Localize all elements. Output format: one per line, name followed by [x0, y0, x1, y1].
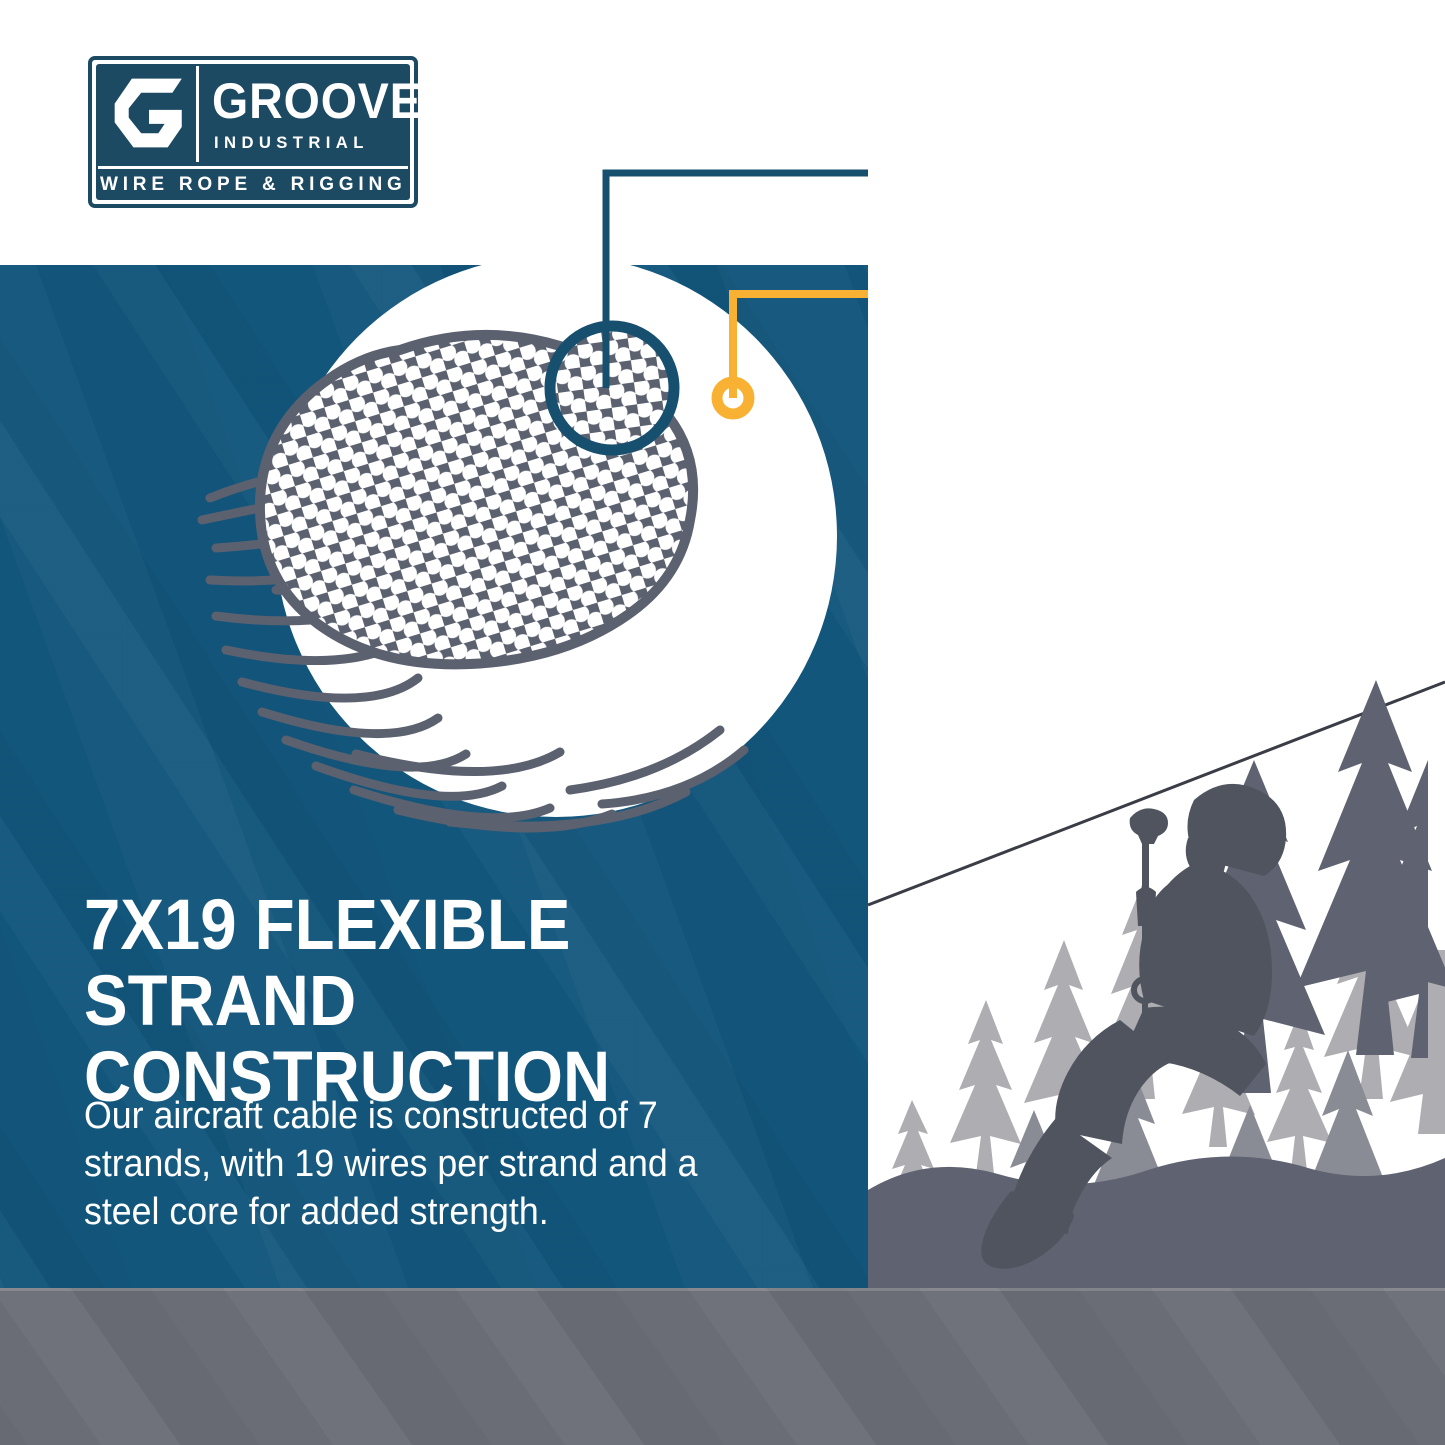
page-headline: 7X19 FLEXIBLE STRAND CONSTRUCTION — [84, 888, 783, 1116]
infographic-page: GROOVE INDUSTRIAL WIRE ROPE & RIGGING — [0, 0, 1445, 1445]
logo-divider — [196, 66, 199, 162]
logo-subword: INDUSTRIAL — [214, 132, 400, 154]
band-top-highlight — [0, 1288, 1445, 1291]
gray-wave-texture — [0, 1288, 1445, 1445]
rope-body — [150, 230, 850, 850]
galvanized-coating-marker-icon — [717, 382, 749, 414]
logo-tagline: WIRE ROPE & RIGGING — [100, 172, 406, 198]
headline-line-1: 7X19 FLEXIBLE — [84, 886, 570, 965]
scene-artwork — [868, 0, 1445, 1290]
brand-logo[interactable]: GROOVE INDUSTRIAL WIRE ROPE & RIGGING — [88, 56, 418, 208]
zipline-forest-scene — [868, 0, 1445, 1290]
bottom-accent-band — [0, 1288, 1445, 1445]
body-paragraph: Our aircraft cable is constructed of 7 s… — [84, 1092, 704, 1236]
g-hexagon-icon — [110, 74, 188, 152]
logo-wordmark: GROOVE — [212, 70, 391, 132]
wire-rope-cross-section-illustration — [150, 230, 850, 850]
zipline-trolley-icon — [1130, 808, 1168, 844]
logo-horizontal-rule — [98, 166, 408, 169]
